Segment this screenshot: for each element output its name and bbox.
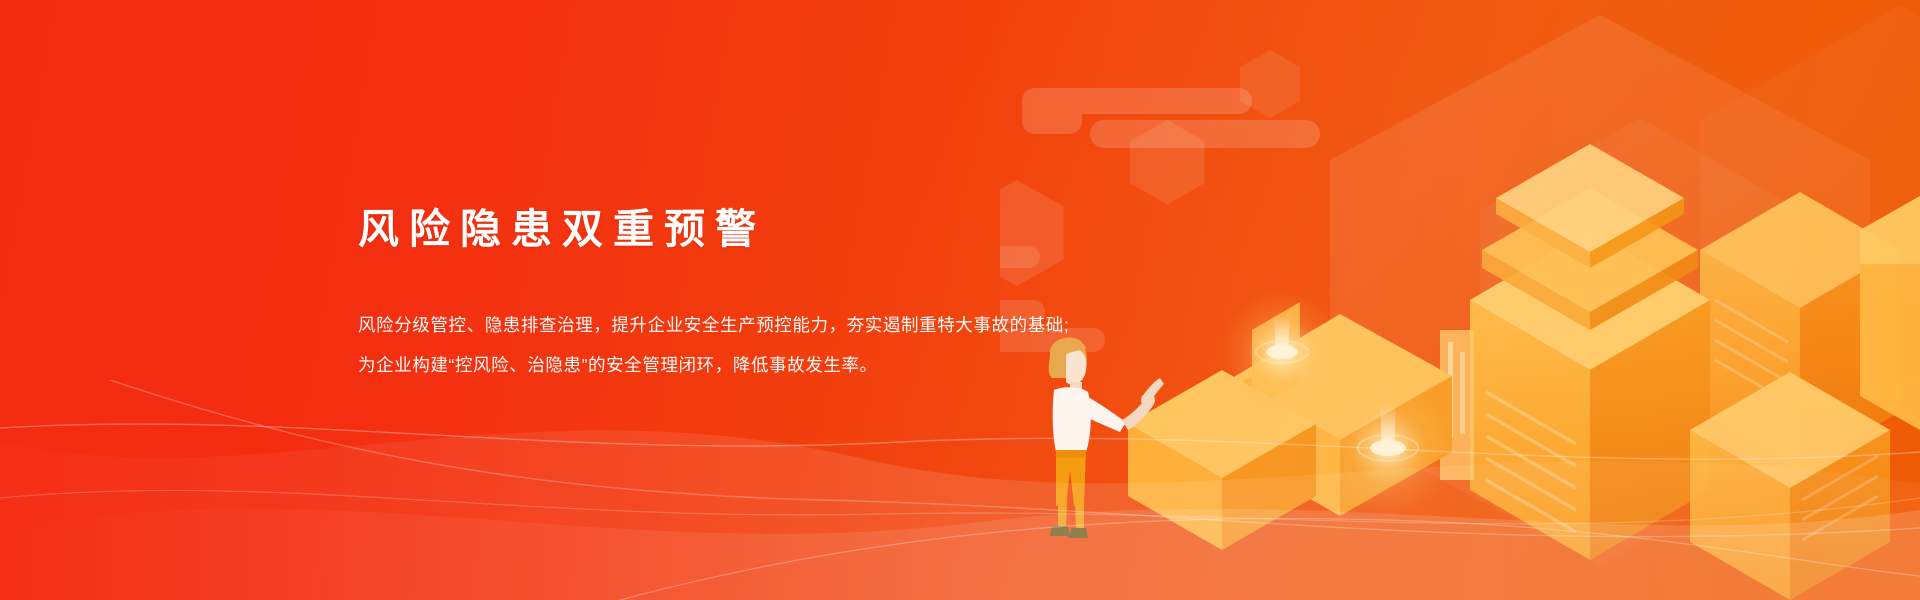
- banner-subtitle-group: 风险分级管控、隐患排查治理，提升企业安全生产预控能力，夯实遏制重特大事故的基础;…: [358, 305, 1178, 385]
- server-slab-far-right: [1860, 196, 1920, 430]
- banner-text-block: 风险隐患双重预警 风险分级管控、隐患排查治理，提升企业安全生产预控能力，夯实遏制…: [358, 205, 1178, 385]
- banner-subtitle-line-2: 为企业构建“控风险、治隐患”的安全管理闭环，降低事故发生率。: [358, 345, 1178, 385]
- glow-light-upper: [1220, 290, 1344, 414]
- glow-light-lower: [1318, 378, 1458, 518]
- hero-banner: 风险隐患双重预警 风险分级管控、隐患排查治理，提升企业安全生产预控能力，夯实遏制…: [0, 0, 1920, 600]
- banner-headline: 风险隐患双重预警: [358, 205, 1178, 253]
- banner-subtitle-line-1: 风险分级管控、隐患排查治理，提升企业安全生产预控能力，夯实遏制重特大事故的基础;: [358, 305, 1178, 345]
